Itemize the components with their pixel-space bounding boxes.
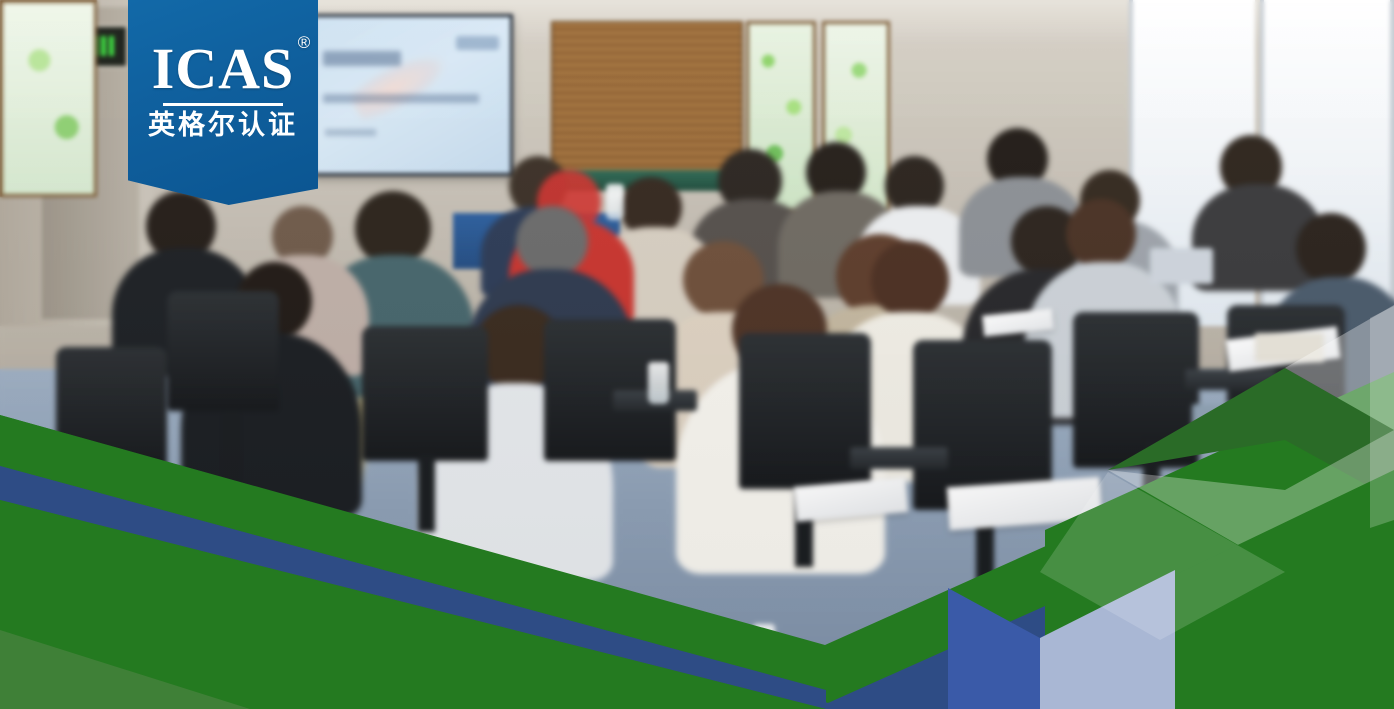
- icas-wordmark-text: ICAS: [152, 36, 295, 101]
- registered-trademark-icon: ®: [298, 34, 312, 51]
- icas-wordmark: ICAS ®: [152, 40, 295, 98]
- banner-canvas: ICAS ® 英格尔认证: [0, 0, 1394, 709]
- icas-chinese-name: 英格尔认证: [148, 112, 298, 139]
- logo-divider: [163, 103, 283, 106]
- icas-logo-badge: ICAS ® 英格尔认证: [128, 0, 318, 205]
